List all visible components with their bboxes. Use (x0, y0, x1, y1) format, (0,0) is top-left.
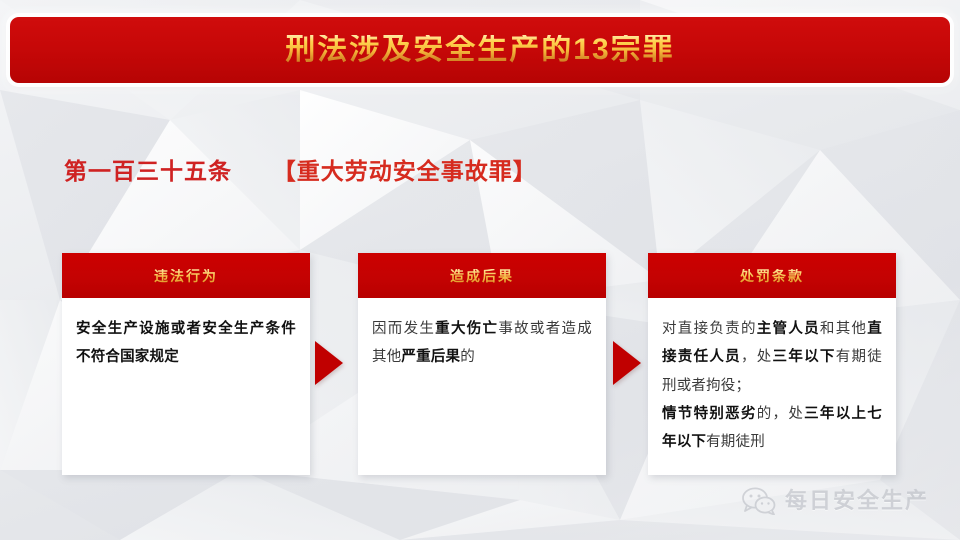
body-text: 的 (460, 349, 475, 365)
slide-root: 刑法涉及安全生产的13宗罪 第一百三十五条 【重大劳动安全事故罪】 违法行为 安… (0, 0, 960, 540)
flow-card: 造成后果 因而发生重大伤亡事故或者造成其他严重后果的 (358, 253, 606, 475)
watermark-label: 每日安全生产 (785, 490, 929, 512)
card-header: 违法行为 (62, 253, 310, 298)
card-header: 处罚条款 (648, 253, 896, 298)
body-text: ，处 (741, 349, 773, 365)
card-paragraph: 因而发生重大伤亡事故或者造成其他严重后果的 (372, 315, 592, 372)
card-paragraph: 对直接负责的主管人员和其他直接责任人员，处三年以下有期徒刑或者拘役； (662, 315, 882, 400)
emphasis-text: 三年以下 (773, 349, 836, 365)
card-header: 造成后果 (358, 253, 606, 298)
body-text: 和其他 (820, 321, 867, 337)
body-text: 因而发生 (372, 321, 435, 337)
article-heading: 第一百三十五条 【重大劳动安全事故罪】 (64, 158, 537, 186)
body-text: 对直接负责的 (662, 321, 757, 337)
card-header-label: 违法行为 (154, 269, 218, 283)
watermark: 每日安全生产 (742, 487, 929, 515)
emphasis-text: 主管人员 (757, 321, 820, 337)
emphasis-text: 重大伤亡 (435, 321, 498, 337)
flow-card: 处罚条款 对直接负责的主管人员和其他直接责任人员，处三年以下有期徒刑或者拘役；情… (648, 253, 896, 475)
card-header-label: 造成后果 (450, 269, 514, 283)
emphasis-text: 严重后果 (401, 349, 460, 365)
emphasis-text: 安全生产设施或者安全生产条件不符合国家规定 (76, 321, 296, 365)
title-banner: 刑法涉及安全生产的13宗罪 (10, 17, 950, 83)
card-body: 对直接负责的主管人员和其他直接责任人员，处三年以下有期徒刑或者拘役；情节特别恶劣… (648, 298, 896, 466)
card-paragraph: 安全生产设施或者安全生产条件不符合国家规定 (76, 315, 296, 372)
crime-name: 【重大劳动安全事故罪】 (273, 158, 537, 184)
emphasis-text: 情节特别恶劣 (662, 406, 757, 422)
body-text: 有期徒刑 (706, 434, 765, 450)
card-body: 因而发生重大伤亡事故或者造成其他严重后果的 (358, 298, 606, 382)
flow-card: 违法行为 安全生产设施或者安全生产条件不符合国家规定 (62, 253, 310, 475)
flow-arrow-right-icon (315, 341, 343, 385)
page-title: 刑法涉及安全生产的13宗罪 (285, 35, 674, 65)
body-text: 的，处 (757, 406, 804, 422)
wechat-icon (742, 487, 776, 515)
card-body: 安全生产设施或者安全生产条件不符合国家规定 (62, 298, 310, 382)
card-header-label: 处罚条款 (740, 269, 804, 283)
card-paragraph: 情节特别恶劣的，处三年以上七年以下有期徒刑 (662, 400, 882, 457)
article-number: 第一百三十五条 (64, 158, 232, 184)
flow-arrow-right-icon (613, 341, 641, 385)
